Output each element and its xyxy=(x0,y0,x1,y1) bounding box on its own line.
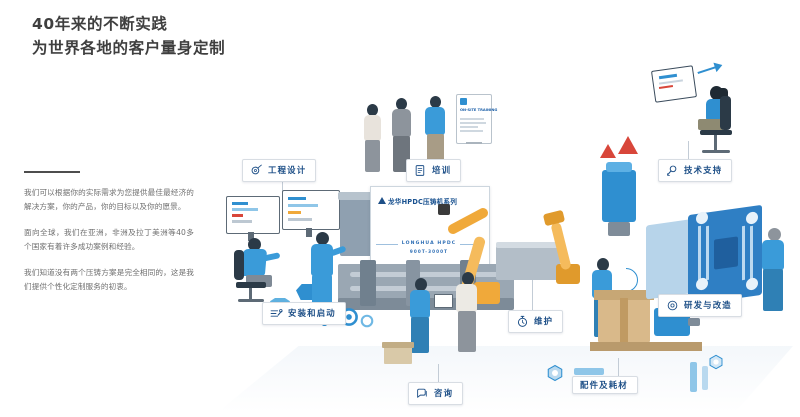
person-support-engineer xyxy=(690,86,742,164)
hex-nut-icon-2 xyxy=(708,354,724,370)
design-monitor-right-chart-2 xyxy=(288,204,318,207)
machine-model-range: 900T-3000T xyxy=(400,249,458,254)
compass-icon xyxy=(250,164,263,177)
support-chair-base xyxy=(702,150,730,153)
design-monitor-left-chart-4 xyxy=(232,220,252,223)
hex-nut-icon-1 xyxy=(546,364,564,382)
badge-label: 技术支持 xyxy=(684,166,722,174)
toolbox-lid xyxy=(382,342,414,348)
badge-label: 研发与改造 xyxy=(684,301,732,309)
bolt-icon-1 xyxy=(574,368,604,375)
machine-model-line: LONGHUA HPDC xyxy=(400,241,458,246)
body-paragraph-3: 我们知道没有两个压铸方案是完全相同的，这是我们提供个性化定制服务的初衷。 xyxy=(24,266,194,294)
training-board-line-1 xyxy=(460,118,484,120)
machine-furnace-cap xyxy=(606,162,632,172)
design-monitor-left-chart-2 xyxy=(232,208,258,211)
design-monitor-right xyxy=(282,190,340,230)
badge-maintenance[interactable]: 维护 xyxy=(508,310,563,333)
chat-bubble-icon xyxy=(416,387,429,400)
rnd-legs xyxy=(763,269,783,311)
designer-torso xyxy=(241,249,267,276)
operator-torso xyxy=(311,244,333,276)
trainer-torso xyxy=(425,107,445,135)
training-board-line-2 xyxy=(460,122,486,124)
support-signal-arrow xyxy=(696,60,724,78)
machine-banner-rule-left xyxy=(376,244,398,245)
badge-label: 配件及耗材 xyxy=(580,381,628,389)
training-board-legs xyxy=(466,142,482,144)
service-illustration: 工程设计 ON-SITE TRAINING xyxy=(210,46,800,417)
divider xyxy=(24,171,80,173)
designer-chair-back xyxy=(234,250,244,280)
headline-line-1: 40年来的不断实践 xyxy=(32,12,362,36)
stopwatch-icon xyxy=(516,315,529,328)
support-chair-back xyxy=(720,96,731,130)
motor-shaft xyxy=(688,318,700,326)
gear-settings-icon xyxy=(666,299,679,312)
circuit-board-trace-1 xyxy=(698,226,701,280)
machine-conveyor xyxy=(496,246,560,280)
badge-label: 维护 xyxy=(534,317,553,325)
badge-engineering-design[interactable]: 工程设计 xyxy=(242,159,316,182)
tech1-torso xyxy=(410,290,430,318)
manager-torso xyxy=(456,284,477,312)
badge-parts-consumables[interactable]: 配件及耗材 xyxy=(572,376,638,394)
trainee2-torso xyxy=(392,109,411,137)
robot-arm-gripper xyxy=(438,204,450,215)
promo-page: 40年来的不断实践 为世界各地的客户量身定制 我们可以根据你的实际需求为您提供最… xyxy=(0,0,800,417)
design-monitor-left-chart-3 xyxy=(232,214,243,217)
robot-b-head xyxy=(543,210,565,226)
tablet-device xyxy=(434,294,453,308)
badge-label: 安装和启动 xyxy=(288,309,336,317)
rnd-torso xyxy=(762,240,784,270)
body-paragraph-2: 面向全球，我们在亚洲，非洲及拉丁美洲等40多个国家有着许多成功案例和经验。 xyxy=(24,226,194,254)
machine-furnace-stand xyxy=(608,222,630,236)
design-monitor-right-chart-4 xyxy=(288,218,312,221)
training-board-avatar xyxy=(460,98,467,105)
training-board-title: ON-SITE TRAINING xyxy=(460,108,488,112)
warning-triangle-1 xyxy=(600,144,616,158)
badge-consultation[interactable]: 咨询 xyxy=(408,382,463,405)
bolt-icon-4 xyxy=(702,366,708,390)
connector-line-maintenance xyxy=(532,278,533,310)
badge-technical-support[interactable]: 技术支持 xyxy=(658,159,732,182)
circuit-board-trace-4 xyxy=(750,226,753,280)
training-board-line-4 xyxy=(460,130,483,132)
circuit-board-trace-3 xyxy=(742,226,745,280)
machine-furnace xyxy=(602,170,636,222)
body-copy: 我们可以根据你的实际需求为您提供最佳最经济的解决方案，你的产品，你的目标以及你的… xyxy=(24,186,194,306)
manager-legs xyxy=(458,311,476,352)
designer-chair-base xyxy=(238,299,264,302)
warning-triangle-2 xyxy=(618,136,638,154)
circuit-board-chip xyxy=(714,236,738,269)
screwdriver-wrench-icon xyxy=(270,307,283,320)
badge-installation-commissioning[interactable]: 安装和启动 xyxy=(262,302,346,325)
body-paragraph-1: 我们可以根据你的实际需求为您提供最佳最经济的解决方案，你的产品，你的目标以及你的… xyxy=(24,186,194,214)
badge-label: 咨询 xyxy=(434,389,453,397)
machine-platen-a xyxy=(360,260,376,306)
toolbox xyxy=(384,346,412,364)
badge-rnd-retrofit[interactable]: 研发与改造 xyxy=(658,294,742,317)
person-rnd-engineer xyxy=(758,228,792,312)
person-manager xyxy=(452,272,484,354)
machine-conveyor-top xyxy=(496,242,560,248)
trainee1-torso xyxy=(364,115,381,141)
training-board-line-3 xyxy=(460,126,478,128)
person-trainee-1 xyxy=(360,104,386,174)
design-monitor-right-chart-3 xyxy=(288,211,301,214)
badge-label: 工程设计 xyxy=(268,166,306,174)
person-designer xyxy=(232,236,292,306)
bolt-icon-3 xyxy=(690,362,697,392)
person-machine-operator xyxy=(306,232,340,312)
design-monitor-left-chart-1 xyxy=(232,202,248,205)
shipping-crate-tape xyxy=(620,298,628,342)
badge-training[interactable]: 培训 xyxy=(406,159,461,182)
design-monitor-right-chart-1 xyxy=(288,197,306,200)
gear-icon-small xyxy=(358,312,376,330)
support-chair-post xyxy=(714,135,717,151)
trainee1-legs xyxy=(365,140,380,172)
pallet xyxy=(590,342,702,351)
clipboard-icon xyxy=(414,164,427,177)
badge-label: 培训 xyxy=(432,166,451,174)
wrench-magnifier-icon xyxy=(666,164,679,177)
circuit-board-trace-2 xyxy=(706,226,709,280)
